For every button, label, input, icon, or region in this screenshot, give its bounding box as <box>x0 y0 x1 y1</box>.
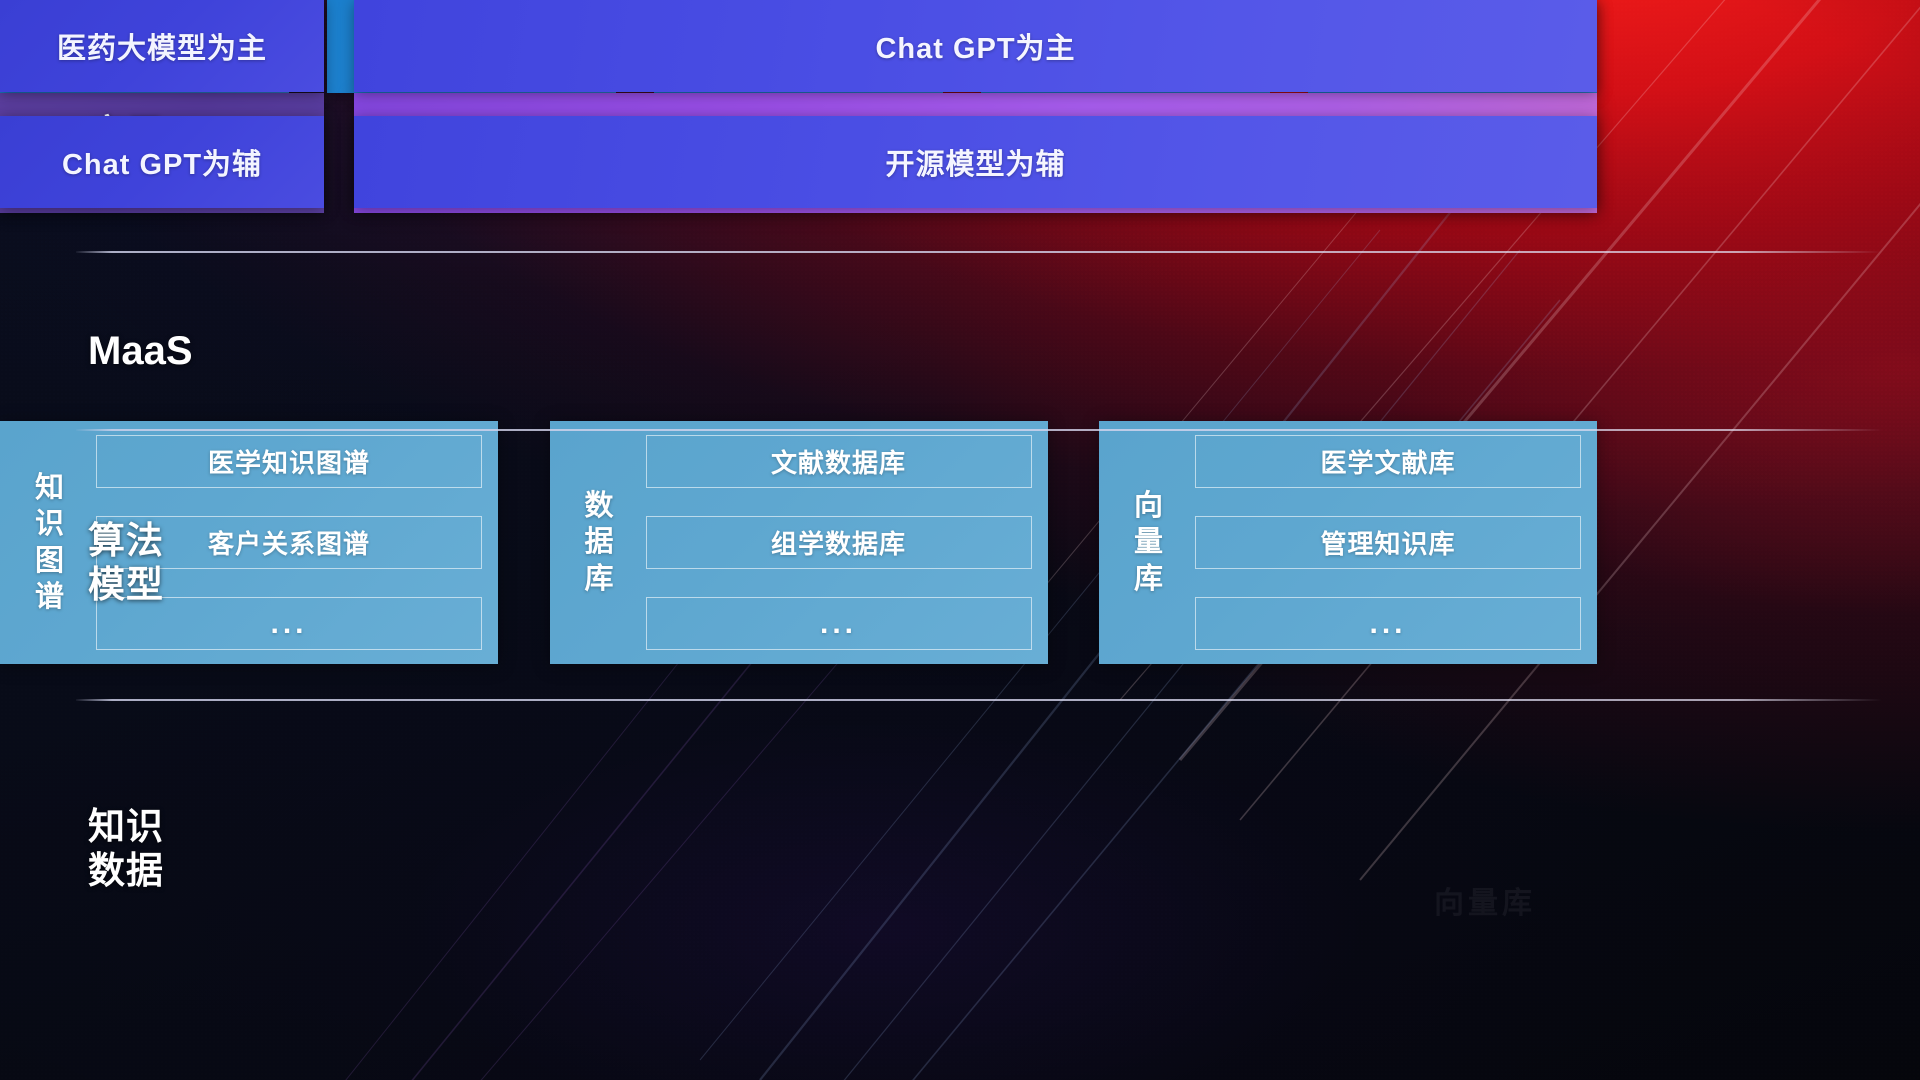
knowledge-panel-vector-store: 向 量 库 医学文献库 管理知识库 ... <box>1099 421 1597 664</box>
knowledge-item-more[interactable]: ... <box>646 597 1032 650</box>
watermark-text: 向量库 <box>1434 878 1536 922</box>
algorithm-primary-line: 医药大模型为主 Chat GPT为主 <box>0 0 1597 92</box>
vertical-label-char: 量 <box>1134 524 1164 560</box>
algo-box-opensource-secondary[interactable]: 开源模型为辅 <box>354 116 1597 208</box>
algo-box-medicine-large-model-primary[interactable]: 医药大模型为主 <box>0 0 324 92</box>
row-label-line: 模型 <box>88 563 238 607</box>
knowledge-item-management-knowledge-store[interactable]: 管理知识库 <box>1195 516 1581 569</box>
vertical-label-char: 图 <box>35 543 65 579</box>
vertical-label-char: 向 <box>1134 488 1164 524</box>
knowledge-item-medical-literature-store[interactable]: 医学文献库 <box>1195 435 1581 488</box>
algorithm-secondary-line: Chat GPT为辅 开源模型为辅 <box>0 116 1597 208</box>
knowledge-panel-knowledge-graph: 知 识 图 谱 医学知识图谱 客户关系图谱 ... <box>0 421 498 664</box>
vertical-label-char: 识 <box>35 506 65 542</box>
knowledge-item-list: 文献数据库 组学数据库 ... <box>636 435 1032 650</box>
slide-canvas: 应用 场景 医药研发 医学事务 企业知识 效能工具 质量管理 MaaS 医药研发… <box>0 0 1920 1080</box>
divider-algorithm-knowledge <box>76 699 1882 701</box>
vertical-label-char: 谱 <box>35 579 65 615</box>
row-label-maas: MaaS <box>88 328 238 375</box>
divider-application-maas <box>76 251 1882 253</box>
vertical-label-char: 知 <box>35 470 65 506</box>
knowledge-item-more[interactable]: ... <box>1195 597 1581 650</box>
vertical-label-char: 据 <box>584 524 614 560</box>
row-label-line: 算法 <box>88 519 238 563</box>
knowledge-item-literature-database[interactable]: 文献数据库 <box>646 435 1032 488</box>
row-label-line: MaaS <box>88 328 238 375</box>
algorithm-model-row: 医药大模型为主 Chat GPT为主 Chat GPT为辅 开源模型为辅 <box>0 213 1597 421</box>
knowledge-panel-label-database: 数 据 库 <box>564 435 636 650</box>
knowledge-panel-database: 数 据 库 文献数据库 组学数据库 ... <box>550 421 1048 664</box>
row-label-knowledge-data: 知识 数据 <box>88 805 238 892</box>
algo-box-chatgpt-primary[interactable]: Chat GPT为主 <box>354 0 1597 92</box>
knowledge-data-row: 知 识 图 谱 医学知识图谱 客户关系图谱 ... 数 据 库 <box>0 421 1597 664</box>
vertical-label-char: 数 <box>584 488 614 524</box>
row-label-line: 数据 <box>88 849 238 893</box>
divider-maas-algorithm <box>76 429 1882 431</box>
vertical-label-char: 库 <box>584 561 614 597</box>
row-label-algorithm-model: 算法 模型 <box>88 519 238 606</box>
knowledge-panel-label-vector-store: 向 量 库 <box>1113 435 1185 650</box>
knowledge-item-medical-knowledge-graph[interactable]: 医学知识图谱 <box>96 435 482 488</box>
row-label-line: 知识 <box>88 805 238 849</box>
knowledge-item-list: 医学文献库 管理知识库 ... <box>1185 435 1581 650</box>
algo-box-chatgpt-secondary[interactable]: Chat GPT为辅 <box>0 116 324 208</box>
knowledge-item-omics-database[interactable]: 组学数据库 <box>646 516 1032 569</box>
vertical-label-char: 库 <box>1134 561 1164 597</box>
knowledge-panel-label-knowledge-graph: 知 识 图 谱 <box>14 435 86 650</box>
